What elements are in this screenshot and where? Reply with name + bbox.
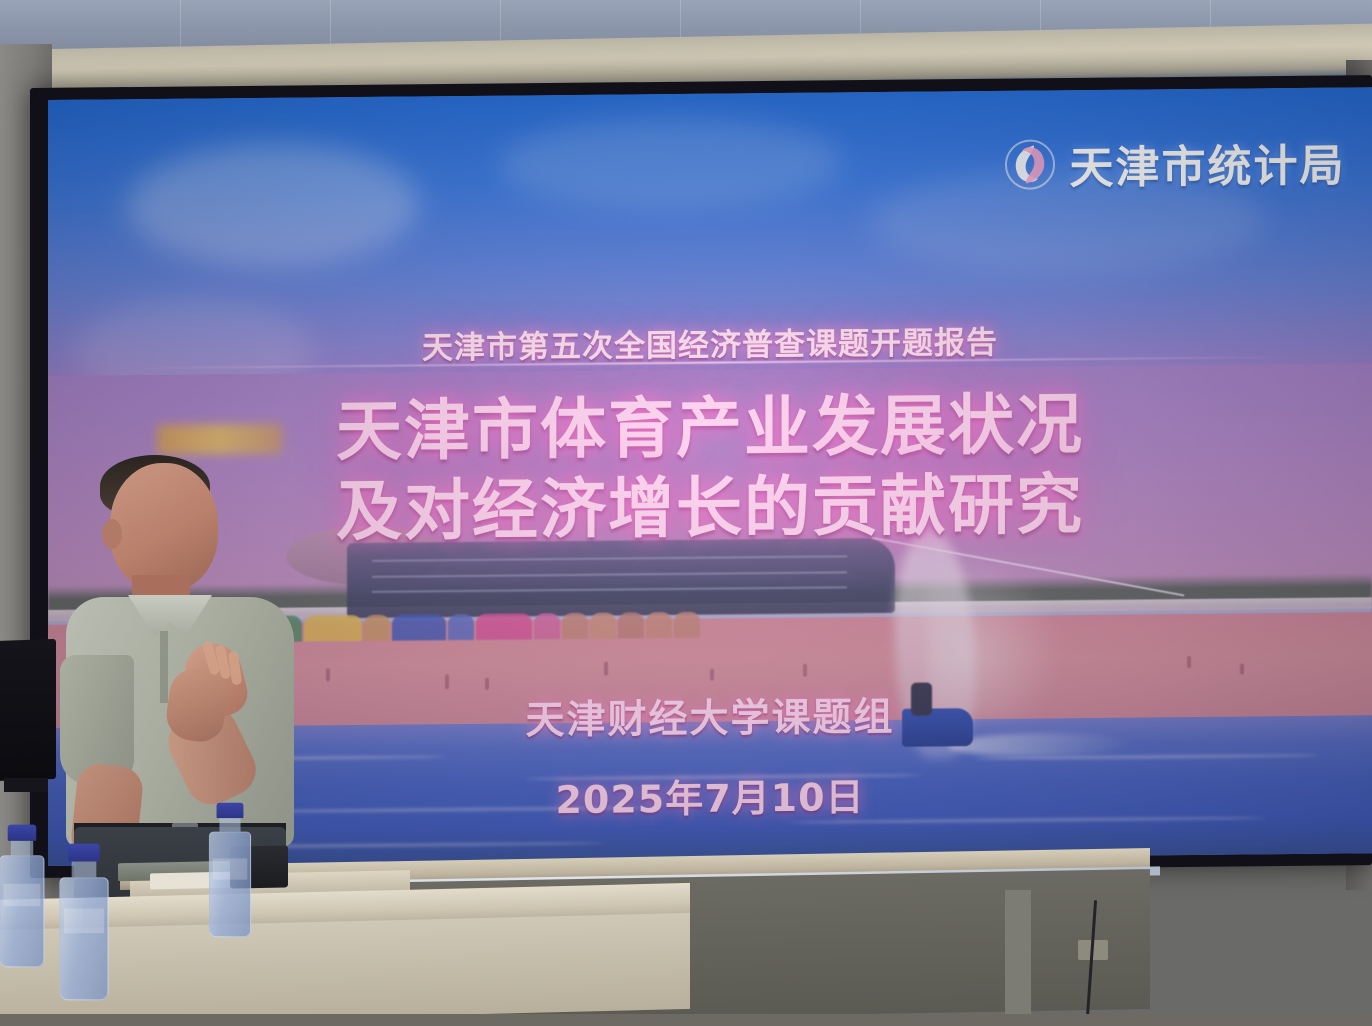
- presentation-room-photo: 天津市统计局 天津市第五次全国经济普查课题开题报告 天津市体育产业发展状况 及对…: [0, 0, 1372, 1026]
- statistics-bureau-emblem-icon: [1004, 138, 1056, 190]
- water-bottle[interactable]: [0, 825, 44, 968]
- water-bottle[interactable]: [209, 803, 251, 937]
- water-bottle[interactable]: [59, 844, 108, 1001]
- podium-monitor[interactable]: [0, 639, 56, 781]
- floor: [0, 1014, 1372, 1026]
- slide-logo: 天津市统计局: [1004, 130, 1346, 197]
- slide-logo-text: 天津市统计局: [1070, 130, 1346, 197]
- presenter-head: [110, 463, 218, 591]
- lectern-post: [1005, 890, 1031, 1026]
